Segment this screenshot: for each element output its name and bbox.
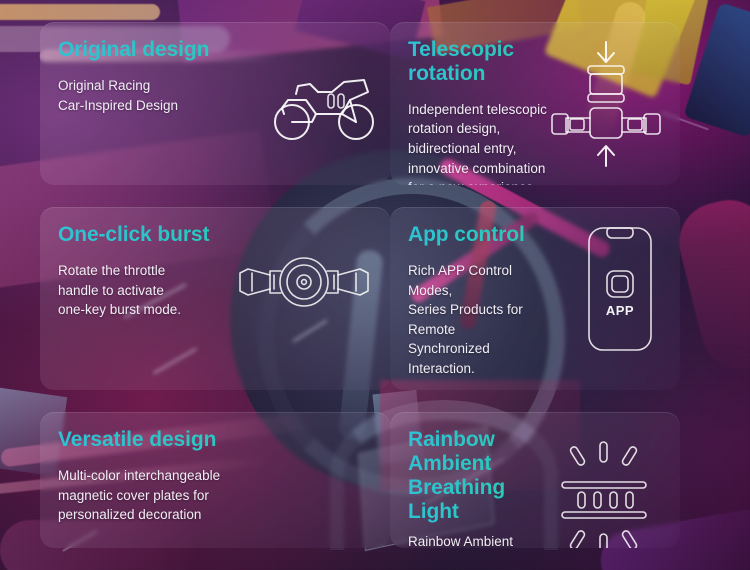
card-title: App control: [408, 223, 560, 247]
cell-telescopic-rotation: Telescopic rotation Independent telescop…: [390, 22, 680, 185]
card-title: One-click burst: [58, 223, 376, 247]
card-body: Rotate the throttle handle to activate o…: [58, 261, 376, 320]
cell-original-design: Original design Original Racing Car-Insp…: [40, 22, 390, 185]
cell-versatile-design: Versatile design Multi-color interchange…: [40, 412, 390, 548]
card-body: Independent telescopic rotation design, …: [408, 100, 550, 185]
card-body: Rich APP Control Modes, Series Products …: [408, 261, 560, 378]
card-title: Telescopic rotation: [408, 38, 550, 86]
cell-one-click-burst: One-click burst Rotate the throttle hand…: [40, 207, 390, 390]
card-one-click-burst[interactable]: One-click burst Rotate the throttle hand…: [40, 207, 390, 390]
card-original-design[interactable]: Original design Original Racing Car-Insp…: [40, 22, 390, 185]
card-grid: Original design Original Racing Car-Insp…: [0, 0, 750, 570]
cell-rainbow-ambient-breathing-light: Rainbow Ambient Breathing Light Rainbow …: [390, 412, 680, 548]
card-title: Rainbow Ambient Breathing Light: [408, 428, 560, 524]
card-title: Versatile design: [58, 428, 376, 452]
card-body: Rainbow Ambient Breathing Light, Creatin…: [408, 532, 560, 548]
card-body: Multi-color interchangeable magnetic cov…: [58, 466, 376, 525]
card-body: Original Racing Car-Inspired Design: [58, 76, 376, 115]
card-title: Original design: [58, 38, 376, 62]
feature-grid-page: Original design Original Racing Car-Insp…: [0, 0, 750, 570]
card-telescopic-rotation[interactable]: Telescopic rotation Independent telescop…: [390, 22, 680, 185]
card-rainbow-ambient-breathing-light[interactable]: Rainbow Ambient Breathing Light Rainbow …: [390, 412, 680, 548]
card-app-control[interactable]: App control Rich APP Control Modes, Seri…: [390, 207, 680, 390]
cell-app-control: App control Rich APP Control Modes, Seri…: [390, 207, 680, 390]
card-versatile-design[interactable]: Versatile design Multi-color interchange…: [40, 412, 390, 548]
